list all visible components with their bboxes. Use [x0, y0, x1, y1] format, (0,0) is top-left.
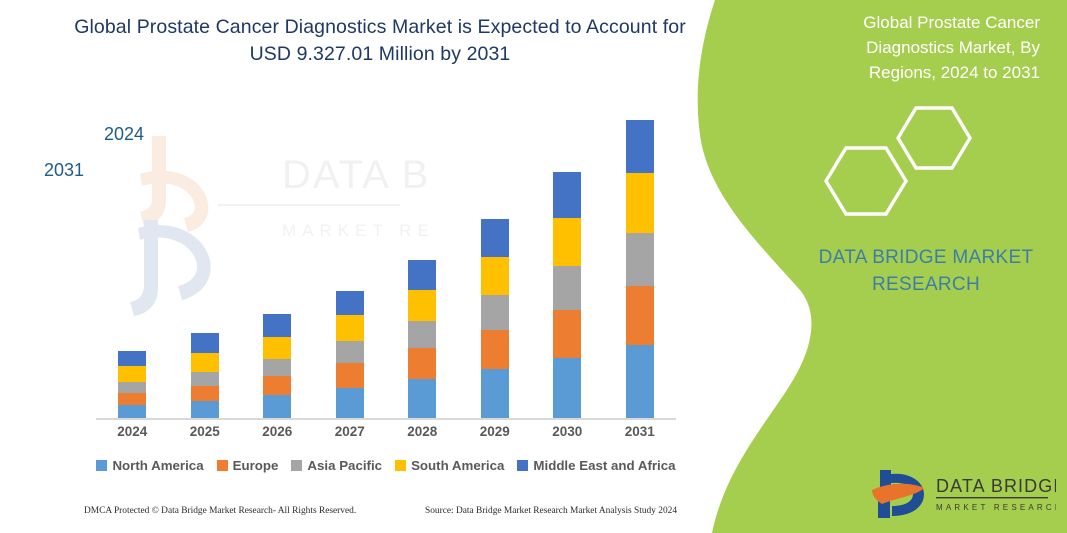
legend-label: Middle East and Africa — [533, 458, 675, 473]
segment-2031-north-america — [626, 345, 654, 420]
legend-item-south-america[interactable]: South America — [395, 458, 504, 473]
bar-2027 — [336, 291, 364, 420]
data-bridge-logo: DATA BRIDGE MARKET RESEARCH — [866, 466, 1056, 522]
stacked-bar-plot — [96, 110, 676, 420]
hex-2031-label: 2031 — [44, 160, 84, 181]
footer-copyright: DMCA Protected © Data Bridge Market Rese… — [84, 506, 356, 516]
segment-2028-north-america — [408, 379, 436, 420]
segment-2027-south-america — [336, 315, 364, 341]
segment-2024-middle-east-and-africa — [118, 351, 146, 366]
x-label-2029: 2029 — [465, 424, 525, 439]
segment-2027-north-america — [336, 388, 364, 420]
x-axis-labels: 20242025202620272028202920302031 — [96, 424, 676, 446]
segment-2030-middle-east-and-africa — [553, 172, 581, 218]
segment-2025-south-america — [191, 353, 219, 372]
segment-2026-europe — [263, 376, 291, 395]
segment-2029-north-america — [481, 369, 509, 420]
bar-2026 — [263, 314, 291, 420]
bar-2025 — [191, 333, 219, 420]
segment-2030-asia-pacific — [553, 266, 581, 310]
legend-swatch-icon — [395, 460, 406, 471]
segment-2026-middle-east-and-africa — [263, 314, 291, 336]
hexagon-group — [812, 104, 1022, 216]
segment-2029-south-america — [481, 257, 509, 295]
segment-2026-asia-pacific — [263, 359, 291, 376]
logo-line2: MARKET RESEARCH — [936, 503, 1056, 512]
infographic-canvas: Global Prostate Cancer Diagnostics Marke… — [0, 0, 1067, 533]
x-label-2031: 2031 — [610, 424, 670, 439]
legend-swatch-icon — [217, 460, 228, 471]
hex-2024-label: 2024 — [104, 124, 144, 145]
segment-2026-south-america — [263, 337, 291, 359]
bar-2028 — [408, 260, 436, 420]
segment-2025-asia-pacific — [191, 372, 219, 386]
legend-item-asia-pacific[interactable]: Asia Pacific — [291, 458, 382, 473]
hex-2031-shape — [826, 148, 906, 214]
segment-2024-asia-pacific — [118, 382, 146, 394]
bar-2030 — [553, 172, 581, 420]
segment-2028-middle-east-and-africa — [408, 260, 436, 290]
segment-2029-middle-east-and-africa — [481, 219, 509, 256]
bar-2024 — [118, 351, 146, 420]
segment-2028-europe — [408, 348, 436, 379]
segment-2028-asia-pacific — [408, 321, 436, 349]
segment-2029-asia-pacific — [481, 295, 509, 330]
legend-item-north-america[interactable]: North America — [96, 458, 203, 473]
segment-2024-europe — [118, 393, 146, 405]
segment-2025-europe — [191, 386, 219, 401]
hex-2024-shape — [898, 108, 970, 168]
legend-label: Europe — [233, 458, 279, 473]
x-label-2024: 2024 — [102, 424, 162, 439]
segment-2030-north-america — [553, 358, 581, 420]
x-label-2028: 2028 — [392, 424, 452, 439]
footer: DMCA Protected © Data Bridge Market Rese… — [75, 506, 695, 524]
segment-2031-europe — [626, 286, 654, 345]
panel-title: Global Prostate Cancer Diagnostics Marke… — [812, 10, 1040, 85]
chart-legend: North AmericaEuropeAsia PacificSouth Ame… — [96, 455, 676, 475]
bar-2031 — [626, 120, 654, 420]
logo-wordmark: DATA BRIDGE MARKET RESEARCH — [936, 476, 1056, 512]
page-title: Global Prostate Cancer Diagnostics Marke… — [70, 14, 690, 68]
x-label-2030: 2030 — [537, 424, 597, 439]
legend-swatch-icon — [96, 460, 107, 471]
x-label-2027: 2027 — [320, 424, 380, 439]
segment-2027-middle-east-and-africa — [336, 291, 364, 316]
legend-label: South America — [411, 458, 504, 473]
bar-2029 — [481, 219, 509, 420]
legend-swatch-icon — [291, 460, 302, 471]
segment-2030-europe — [553, 310, 581, 358]
footer-source: Source: Data Bridge Market Research Mark… — [425, 506, 677, 516]
segment-2029-europe — [481, 330, 509, 368]
segment-2027-europe — [336, 363, 364, 388]
segment-2024-south-america — [118, 366, 146, 382]
segment-2026-north-america — [263, 395, 291, 420]
x-label-2026: 2026 — [247, 424, 307, 439]
panel-brand-text: DATA BRIDGE MARKET RESEARCH — [812, 244, 1040, 298]
segment-2031-south-america — [626, 173, 654, 233]
legend-label: Asia Pacific — [307, 458, 382, 473]
segment-2030-south-america — [553, 218, 581, 266]
segment-2031-asia-pacific — [626, 233, 654, 286]
legend-item-middle-east-and-africa[interactable]: Middle East and Africa — [517, 458, 675, 473]
legend-item-europe[interactable]: Europe — [217, 458, 279, 473]
legend-label: North America — [112, 458, 203, 473]
x-label-2025: 2025 — [175, 424, 235, 439]
segment-2028-south-america — [408, 290, 436, 321]
x-axis-line — [96, 418, 676, 420]
legend-swatch-icon — [517, 460, 528, 471]
segment-2031-middle-east-and-africa — [626, 120, 654, 173]
segment-2025-middle-east-and-africa — [191, 333, 219, 352]
segment-2027-asia-pacific — [336, 341, 364, 363]
logo-mark — [872, 470, 924, 518]
logo-line1: DATA BRIDGE — [936, 476, 1056, 496]
